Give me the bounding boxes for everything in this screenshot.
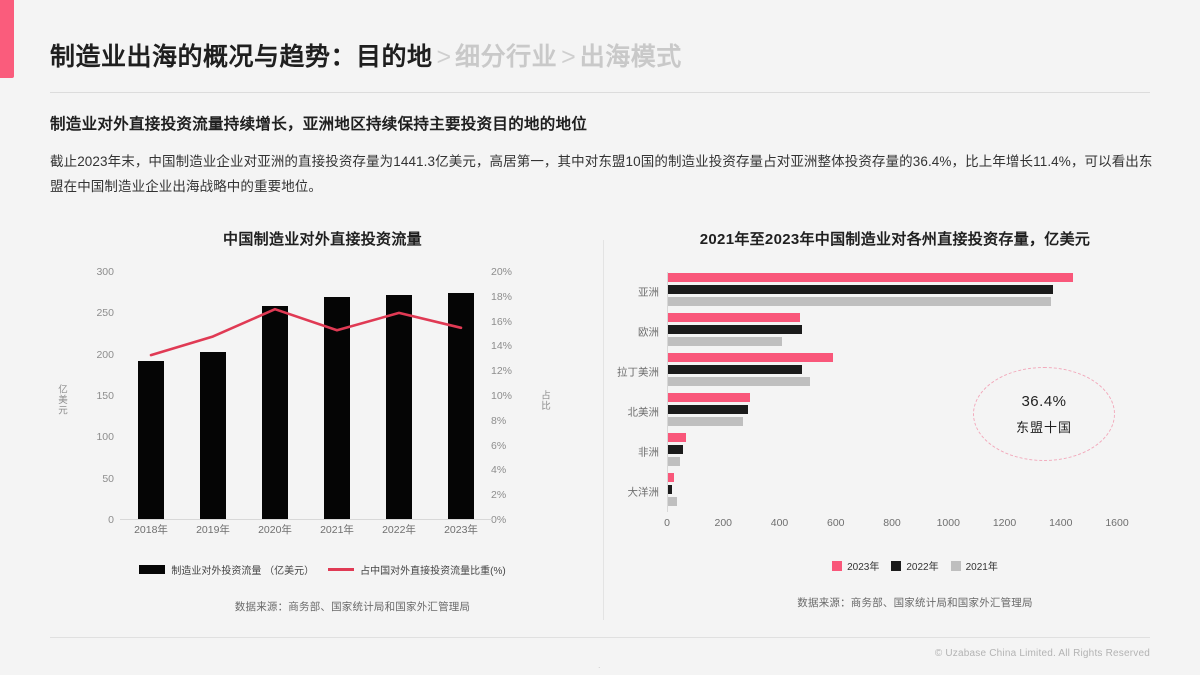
bar-group-拉丁美洲 [668, 353, 1117, 389]
bar-group-北美洲 [668, 393, 1117, 429]
hbar-plot-area: 36.4% 东盟十国 [667, 272, 1117, 512]
y-tick-right: 12% [491, 365, 512, 377]
bar-group-欧洲 [668, 313, 1117, 349]
page-marker: . [598, 660, 601, 670]
x-tick-label: 2022年 [368, 522, 430, 537]
legend-item-2021[interactable]: 2021年 [951, 558, 998, 573]
hbar-非洲-2023年 [668, 433, 686, 442]
y-tick-right: 6% [491, 440, 506, 452]
hbar-大洋洲-2021年 [668, 497, 677, 506]
legend-item-bar[interactable]: 制造业对外投资流量 （亿美元） [139, 562, 314, 577]
y-tick-left: 250 [96, 307, 114, 319]
y-tick-left: 50 [102, 473, 114, 485]
hbar-亚洲-2021年 [668, 297, 1051, 306]
bar-group-非洲 [668, 433, 1117, 469]
hbar-非洲-2022年 [668, 445, 683, 454]
x-tick-label: 200 [714, 517, 732, 529]
category-label-拉丁美洲: 拉丁美洲 [617, 365, 659, 380]
category-label-欧洲: 欧洲 [638, 325, 659, 340]
x-tick-label: 1400 [1049, 517, 1072, 529]
hbar-欧洲-2023年 [668, 313, 800, 322]
lead-heading: 制造业对外直接投资流量持续增长，亚洲地区持续保持主要投资目的地的地位 [50, 112, 1160, 134]
hbar-欧洲-2021年 [668, 337, 782, 346]
x-tick-label: 400 [771, 517, 789, 529]
left-y-axis-caption: 亿美元 [54, 384, 68, 416]
swatch-2023-icon [832, 561, 842, 571]
y-tick-right: 4% [491, 464, 506, 476]
hbar-x-axis: 02004006008001000120014001600 [667, 513, 1117, 531]
legend-item-2022[interactable]: 2022年 [891, 558, 938, 573]
left-chart-title: 中国制造业对外直接投资流量 [50, 228, 595, 250]
x-tick-label: 800 [883, 517, 901, 529]
breadcrumb-item-3[interactable]: 出海模式 [580, 43, 682, 71]
y-tick-left: 0 [108, 514, 114, 526]
right-chart-legend: 2023年 2022年 2021年 [615, 558, 1175, 573]
x-tick-label: 0 [664, 517, 670, 529]
x-tick-label: 1200 [993, 517, 1016, 529]
header-divider [50, 92, 1150, 93]
bar-group-大洋洲 [668, 473, 1117, 509]
y-tick-left: 150 [96, 390, 114, 402]
lead-body: 截止2023年末，中国制造业企业对亚洲的直接投资存量为1441.3亿美元，高居第… [50, 150, 1160, 200]
y-tick-left: 300 [96, 266, 114, 278]
y-tick-right: 10% [491, 390, 512, 402]
combo-plot-area [120, 272, 492, 520]
legend-label-line: 占中国对外直接投资流量比重(%) [360, 562, 506, 577]
y-tick-right: 2% [491, 489, 506, 501]
y-tick-left: 200 [96, 349, 114, 361]
left-chart-source: 数据来源：商务部、国家统计局和国家外汇管理局 [50, 599, 595, 614]
accent-bar [0, 0, 14, 78]
panel-divider [603, 240, 604, 620]
category-label-北美洲: 北美洲 [628, 405, 660, 420]
header: 制造业出海的概况与趋势：目的地>细分行业>出海模式 [50, 42, 1150, 72]
x-tick-label: 1600 [1105, 517, 1128, 529]
breadcrumb-separator-1: > [433, 43, 456, 71]
swatch-2022-icon [891, 561, 901, 571]
swatch-2021-icon [951, 561, 961, 571]
hbar-拉丁美洲-2022年 [668, 365, 802, 374]
right-chart-source: 数据来源：商务部、国家统计局和国家外汇管理局 [615, 595, 1175, 610]
legend-item-2023[interactable]: 2023年 [832, 558, 879, 573]
legend-label-bar: 制造业对外投资流量 （亿美元） [171, 562, 314, 577]
combo-chart: 亿美元 占比 050100150200250300 0%2%4%6%8%10%1… [50, 272, 595, 540]
right-chart-panel: 2021年至2023年中国制造业对各州直接投资存量，亿美元 大洋洲非洲北美洲拉丁… [615, 228, 1175, 628]
x-tick-label: 2023年 [430, 522, 492, 537]
legend-item-line[interactable]: 占中国对外直接投资流量比重(%) [328, 562, 506, 577]
hbar-拉丁美洲-2021年 [668, 377, 810, 386]
x-tick-label: 2018年 [120, 522, 182, 537]
horizontal-bar-chart: 大洋洲非洲北美洲拉丁美洲欧洲亚洲 36.4% 东盟十国 020040060080… [615, 272, 1175, 540]
legend-label-2021: 2021年 [966, 558, 998, 573]
category-label-大洋洲: 大洋洲 [628, 485, 660, 500]
y-tick-left: 100 [96, 431, 114, 443]
y-tick-right: 8% [491, 415, 506, 427]
right-y-axis: 0%2%4%6%8%10%12%14%16%18%20% [491, 272, 533, 520]
left-y-axis: 050100150200250300 [72, 272, 114, 520]
hbar-北美洲-2021年 [668, 417, 743, 426]
x-tick-label: 1000 [937, 517, 960, 529]
footer-copyright: © Uzabase China Limited. All Rights Rese… [935, 648, 1150, 659]
hbar-非洲-2021年 [668, 457, 680, 466]
y-tick-right: 16% [491, 316, 512, 328]
hbar-亚洲-2023年 [668, 273, 1073, 282]
line-swatch-icon [328, 568, 354, 571]
category-label-亚洲: 亚洲 [638, 285, 659, 300]
hbar-亚洲-2022年 [668, 285, 1053, 294]
bar-group-亚洲 [668, 273, 1117, 309]
line-series [120, 272, 492, 520]
x-tick-label: 2019年 [182, 522, 244, 537]
hbar-拉丁美洲-2023年 [668, 353, 833, 362]
right-y-axis-caption: 占比 [537, 390, 551, 411]
hbar-欧洲-2022年 [668, 325, 802, 334]
category-axis: 大洋洲非洲北美洲拉丁美洲欧洲亚洲 [615, 272, 663, 512]
y-tick-right: 0% [491, 514, 506, 526]
x-tick-label: 600 [827, 517, 845, 529]
slide-canvas: 制造业出海的概况与趋势：目的地>细分行业>出海模式 制造业对外直接投资流量持续增… [0, 0, 1200, 675]
right-chart-title: 2021年至2023年中国制造业对各州直接投资存量，亿美元 [615, 228, 1175, 250]
y-tick-right: 18% [491, 291, 512, 303]
footer-divider [50, 637, 1150, 638]
hbar-大洋洲-2022年 [668, 485, 672, 494]
left-chart-legend: 制造业对外投资流量 （亿美元） 占中国对外直接投资流量比重(%) [50, 562, 595, 577]
legend-label-2023: 2023年 [847, 558, 879, 573]
breadcrumb-title: 制造业出海的概况与趋势：目的地>细分行业>出海模式 [50, 42, 1150, 72]
x-tick-label: 2020年 [244, 522, 306, 537]
hbar-北美洲-2022年 [668, 405, 748, 414]
category-label-非洲: 非洲 [638, 445, 659, 460]
legend-label-2022: 2022年 [906, 558, 938, 573]
left-chart-panel: 中国制造业对外直接投资流量 亿美元 占比 050100150200250300 … [50, 228, 595, 628]
breadcrumb-separator-2: > [557, 43, 580, 71]
breadcrumb-item-2[interactable]: 细分行业 [455, 43, 557, 71]
trend-line [151, 309, 461, 355]
lead-block: 制造业对外直接投资流量持续增长，亚洲地区持续保持主要投资目的地的地位 截止202… [50, 112, 1160, 200]
y-tick-right: 14% [491, 340, 512, 352]
page-title: 制造业出海的概况与趋势：目的地 [50, 43, 433, 71]
combo-x-axis-labels: 2018年2019年2020年2021年2022年2023年 [120, 522, 492, 537]
bar-swatch-icon [139, 565, 165, 574]
hbar-北美洲-2023年 [668, 393, 750, 402]
x-tick-label: 2021年 [306, 522, 368, 537]
hbar-大洋洲-2023年 [668, 473, 674, 482]
y-tick-right: 20% [491, 266, 512, 278]
